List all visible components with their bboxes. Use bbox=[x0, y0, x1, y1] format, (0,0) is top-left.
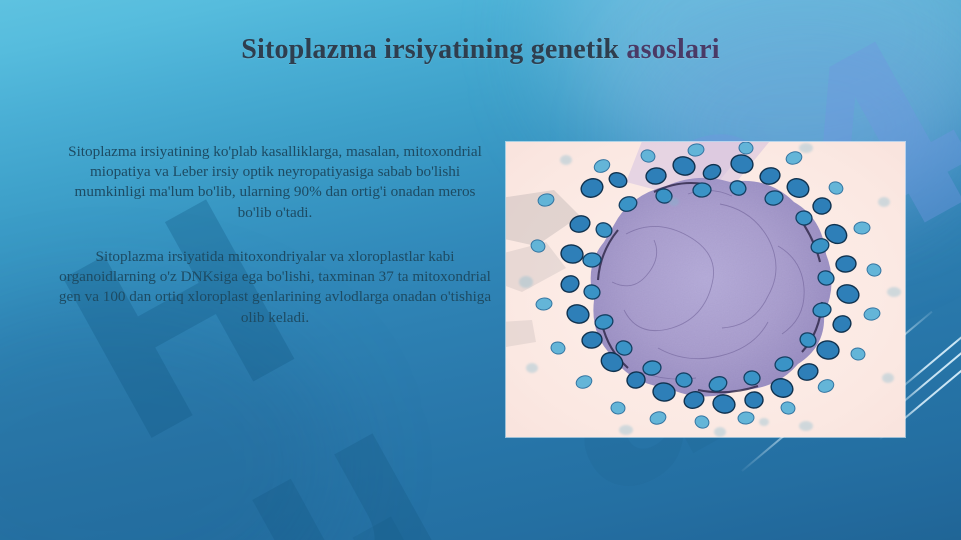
watermark-letter-j: j bbox=[330, 501, 510, 540]
background-glow-bottom-left bbox=[0, 300, 340, 540]
micrograph-svg bbox=[506, 142, 905, 437]
body-paragraph-2: Sitoplazma irsiyatida mitoxondriyalar va… bbox=[56, 247, 494, 328]
slide-title: Sitoplazma irsiyatining genetik asoslari bbox=[0, 34, 961, 66]
body-paragraph-1: Sitoplazma irsiyatining ko'plab kasallik… bbox=[56, 142, 494, 223]
slide-title-accent: asoslari bbox=[619, 34, 720, 65]
presentation-slide: H u j at 24 Sitoplazma irsiyatining gene… bbox=[0, 0, 961, 540]
watermark-letter-u: u bbox=[205, 371, 465, 540]
micrograph-image bbox=[506, 142, 905, 437]
slide-title-main: Sitoplazma irsiyatining genetik bbox=[241, 34, 619, 65]
slide-body-text: Sitoplazma irsiyatining ko'plab kasallik… bbox=[56, 142, 494, 328]
